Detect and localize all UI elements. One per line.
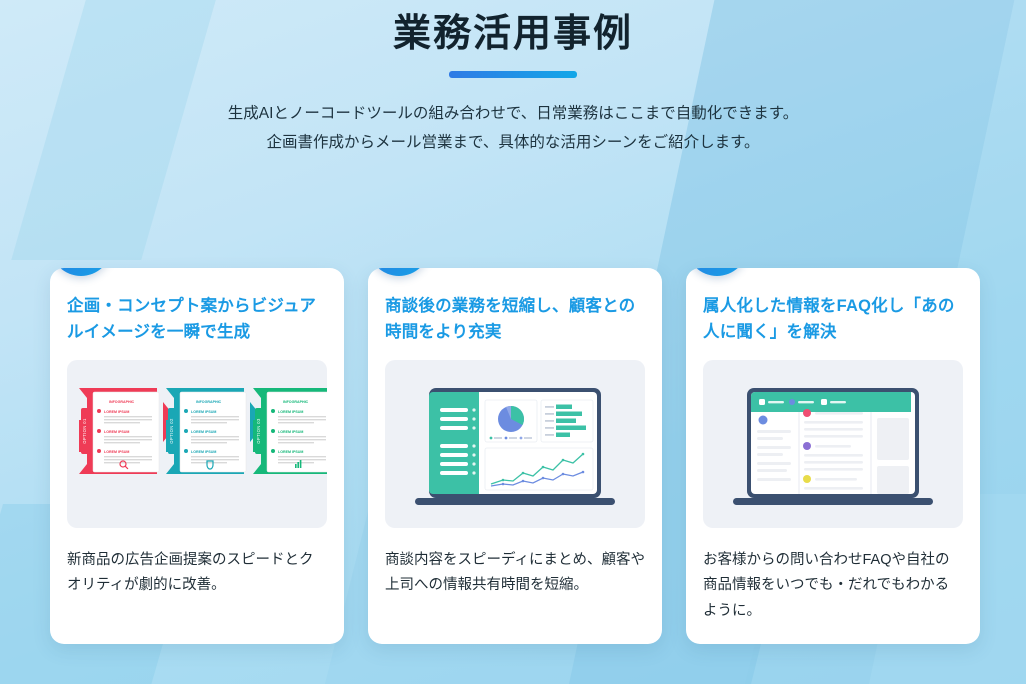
svg-text:LOREM IPSUM: LOREM IPSUM: [191, 450, 216, 454]
chat-bubble-icon-badge: [686, 268, 748, 276]
svg-text:OPTION 02: OPTION 02: [169, 418, 174, 444]
svg-text:OPTION 01: OPTION 01: [82, 418, 87, 444]
case-card-2-title: 商談後の業務を短縮し、顧客との時間をより充実: [385, 294, 645, 346]
case-card-1-thumbnail: OPTION 01 INFOGRAPHIC LOREM IPSUM LOREM …: [67, 360, 327, 528]
case-card-1-title: 企画・コンセプト案からビジュアルイメージを一瞬で生成: [67, 294, 327, 346]
svg-text:LOREM IPSUM: LOREM IPSUM: [278, 430, 303, 434]
page-title: 業務活用事例: [0, 10, 1026, 59]
svg-text:LOREM IPSUM: LOREM IPSUM: [191, 410, 216, 414]
case-card-3[interactable]: 属人化した情報をFAQ化し「あの人に聞く」を解決: [686, 268, 980, 644]
case-card-3-title: 属人化した情報をFAQ化し「あの人に聞く」を解決: [703, 294, 963, 346]
page-header: 業務活用事例 生成AIとノーコードツールの組み合わせで、日常業務はここまで自動化…: [0, 0, 1026, 158]
page-root: 業務活用事例 生成AIとノーコードツールの組み合わせで、日常業務はここまで自動化…: [0, 0, 1026, 684]
svg-text:LOREM IPSUM: LOREM IPSUM: [104, 430, 129, 434]
svg-text:LOREM IPSUM: LOREM IPSUM: [191, 430, 216, 434]
case-card-2-description: 商談内容をスピーディにまとめ、顧客や上司への情報共有時間を短縮。: [385, 548, 645, 599]
case-card-3-thumbnail: [703, 360, 963, 528]
svg-text:INFOGRAPHIC: INFOGRAPHIC: [109, 400, 135, 404]
title-underline: [449, 71, 577, 78]
case-card-1-description: 新商品の広告企画提案のスピードとクオリティが劇的に改善。: [67, 548, 327, 599]
case-card-1[interactable]: 企画・コンセプト案からビジュアルイメージを一瞬で生成 OPTION 01: [50, 268, 344, 644]
page-subtitle: 生成AIとノーコードツールの組み合わせで、日常業務はここまで自動化できます。 企…: [0, 100, 1026, 157]
clock-icon-badge: [368, 268, 430, 276]
case-card-2[interactable]: 商談後の業務を短縮し、顧客との時間をより充実: [368, 268, 662, 644]
svg-text:LOREM IPSUM: LOREM IPSUM: [104, 450, 129, 454]
case-card-3-description: お客様からの問い合わせFAQや自社の商品情報をいつでも・だれでもわかるように。: [703, 548, 963, 624]
svg-text:LOREM IPSUM: LOREM IPSUM: [278, 450, 303, 454]
lightbulb-icon-badge: [50, 268, 112, 276]
svg-text:INFOGRAPHIC: INFOGRAPHIC: [283, 400, 309, 404]
laptop-faq-list-illustration: [703, 360, 963, 528]
infographic-panels-illustration: OPTION 01 INFOGRAPHIC LOREM IPSUM LOREM …: [67, 360, 327, 528]
subtitle-line-2: 企画書作成からメール営業まで、具体的な活用シーンをご紹介します。: [0, 129, 1026, 158]
svg-text:OPTION 03: OPTION 03: [256, 418, 261, 444]
subtitle-line-1: 生成AIとノーコードツールの組み合わせで、日常業務はここまで自動化できます。: [0, 100, 1026, 129]
case-card-list: 企画・コンセプト案からビジュアルイメージを一瞬で生成 OPTION 01: [50, 268, 980, 644]
svg-text:INFOGRAPHIC: INFOGRAPHIC: [196, 400, 222, 404]
case-card-2-thumbnail: [385, 360, 645, 528]
svg-text:LOREM IPSUM: LOREM IPSUM: [278, 410, 303, 414]
laptop-dashboard-illustration: [385, 360, 645, 528]
svg-text:LOREM IPSUM: LOREM IPSUM: [104, 410, 129, 414]
